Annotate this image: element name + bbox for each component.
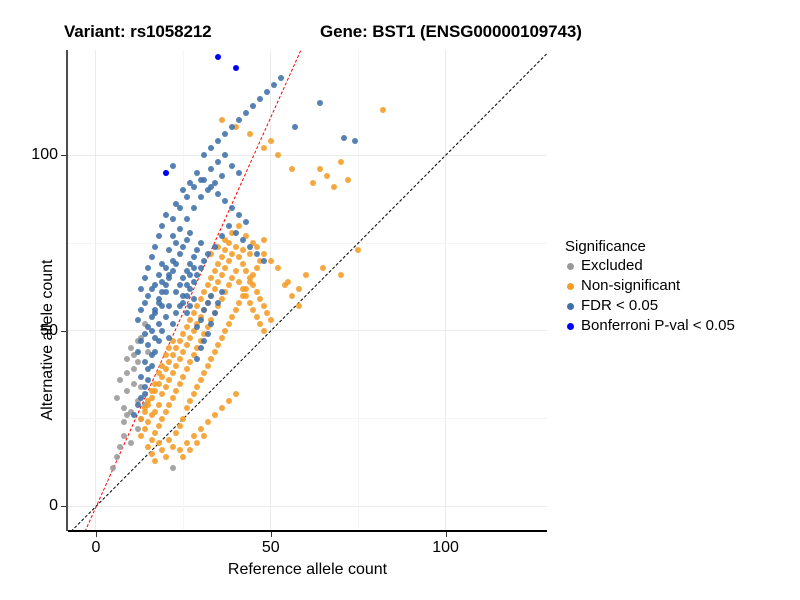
data-point (205, 300, 211, 306)
data-point (149, 314, 155, 320)
data-point (149, 451, 155, 457)
data-point (170, 163, 176, 169)
data-point (222, 131, 228, 137)
data-point (110, 465, 116, 471)
data-point (236, 254, 242, 260)
data-point (198, 240, 204, 246)
data-point (247, 244, 253, 250)
data-point (296, 303, 302, 309)
data-point (170, 395, 176, 401)
data-point (194, 170, 200, 176)
data-point (191, 296, 197, 302)
data-point (205, 282, 211, 288)
data-point (121, 405, 127, 411)
data-point (198, 265, 204, 271)
data-point (198, 345, 204, 351)
variant-title: Variant: rs1058212 (64, 22, 212, 42)
data-point (247, 251, 253, 257)
data-point (170, 465, 176, 471)
data-point (145, 402, 151, 408)
data-point (187, 230, 193, 236)
legend-dot (567, 263, 574, 270)
data-point (212, 349, 218, 355)
data-point (152, 409, 158, 415)
x-tick-label: 0 (66, 539, 126, 557)
legend-key-dot-icon (563, 319, 577, 333)
data-point (152, 349, 158, 355)
data-point (135, 349, 141, 355)
data-point (261, 303, 267, 309)
data-point (250, 272, 256, 278)
data-point (208, 145, 214, 151)
gridline-horizontal-minor (68, 243, 547, 244)
data-point (331, 184, 337, 190)
gridline-vertical (95, 50, 96, 531)
data-point (187, 359, 193, 365)
data-point (166, 345, 172, 351)
x-tick-label: 50 (241, 539, 301, 557)
data-point (173, 261, 179, 267)
gridline-vertical-minor (358, 50, 359, 531)
data-point (222, 247, 228, 253)
legend-items: ExcludedNon-significantFDR < 0.05Bonferr… (563, 256, 798, 336)
data-point (198, 377, 204, 383)
data-point (198, 426, 204, 432)
data-point (170, 352, 176, 358)
data-point (173, 310, 179, 316)
data-point (226, 321, 232, 327)
data-point (296, 286, 302, 292)
data-point (142, 300, 148, 306)
data-point (201, 338, 207, 344)
data-point (226, 223, 232, 229)
legend-key-dot-icon (563, 299, 577, 313)
data-point (236, 212, 242, 218)
y-axis-label: Alternative allele count (39, 140, 57, 540)
data-point (257, 296, 263, 302)
data-point (236, 170, 242, 176)
data-point (121, 419, 127, 425)
data-point (156, 423, 162, 429)
data-point (226, 258, 232, 264)
data-point (233, 230, 239, 236)
data-point (184, 216, 190, 222)
data-point (138, 416, 144, 422)
data-point (310, 180, 316, 186)
data-point (166, 247, 172, 253)
legend-item-label: Bonferroni P-val < 0.05 (581, 316, 735, 336)
data-point (163, 282, 169, 288)
data-point (156, 272, 162, 278)
data-point (303, 272, 309, 278)
data-point (201, 370, 207, 376)
x-axis-line (68, 530, 547, 532)
data-point (191, 310, 197, 316)
data-point (201, 152, 207, 158)
gridline-horizontal (68, 330, 547, 331)
data-point (317, 166, 323, 172)
data-point (317, 100, 323, 106)
data-point (135, 402, 141, 408)
data-point (212, 268, 218, 274)
data-point (201, 289, 207, 295)
data-point (222, 265, 228, 271)
data-point (250, 307, 256, 313)
legend-dot (567, 323, 574, 330)
data-point (215, 279, 221, 285)
data-point (222, 328, 228, 334)
data-point (170, 268, 176, 274)
data-point (173, 388, 179, 394)
data-point (163, 170, 169, 176)
data-point (149, 437, 155, 443)
data-point (208, 293, 214, 299)
data-point (243, 219, 249, 225)
data-point (184, 342, 190, 348)
x-tick-mark (96, 532, 97, 537)
data-point (128, 440, 134, 446)
data-point (149, 395, 155, 401)
data-point (205, 363, 211, 369)
data-point (187, 303, 193, 309)
data-point (240, 261, 246, 267)
y-tick-mark (61, 506, 66, 507)
data-point (131, 381, 137, 387)
data-point (212, 412, 218, 418)
data-point (187, 447, 193, 453)
data-point (184, 194, 190, 200)
data-point (355, 247, 361, 253)
data-point (261, 258, 267, 264)
data-point (138, 286, 144, 292)
data-point (250, 103, 256, 109)
data-point (194, 440, 200, 446)
data-point (240, 247, 246, 253)
data-point (219, 272, 225, 278)
legend-item-3[interactable]: Bonferroni P-val < 0.05 (563, 316, 798, 336)
legend-item-0[interactable]: Excluded (563, 256, 798, 276)
data-point (201, 258, 207, 264)
data-point (159, 416, 165, 422)
data-point (163, 409, 169, 415)
data-point (278, 75, 284, 81)
data-point (215, 54, 221, 60)
data-point (229, 314, 235, 320)
data-point (170, 444, 176, 450)
data-point (257, 321, 263, 327)
data-point (191, 205, 197, 211)
data-point (261, 328, 267, 334)
data-point (208, 356, 214, 362)
data-point (180, 275, 186, 281)
data-point (233, 65, 239, 71)
data-point (180, 416, 186, 422)
data-point (184, 440, 190, 446)
data-point (184, 237, 190, 243)
legend-dot (567, 283, 574, 290)
data-point (145, 419, 151, 425)
data-point (117, 377, 123, 383)
data-point (191, 254, 197, 260)
data-point (240, 293, 246, 299)
data-point (229, 275, 235, 281)
data-point (219, 173, 225, 179)
data-point (166, 359, 172, 365)
data-point (229, 251, 235, 257)
data-point (177, 423, 183, 429)
data-point (194, 384, 200, 390)
data-point (275, 152, 281, 158)
data-point (187, 398, 193, 404)
data-point (261, 145, 267, 151)
data-point (275, 265, 281, 271)
data-point (215, 191, 221, 197)
data-point (142, 426, 148, 432)
data-point (247, 279, 253, 285)
gridline-vertical (270, 50, 271, 531)
data-point (243, 286, 249, 292)
plot-panel (68, 50, 547, 531)
data-point (142, 331, 148, 337)
data-point (194, 356, 200, 362)
data-point (145, 265, 151, 271)
x-tick-label: 100 (416, 539, 476, 557)
data-point (271, 82, 277, 88)
data-point (222, 198, 228, 204)
data-point (177, 381, 183, 387)
legend-title: Significance (565, 238, 798, 255)
data-point (254, 251, 260, 257)
data-point (152, 458, 158, 464)
data-point (198, 296, 204, 302)
data-point (152, 430, 158, 436)
legend-dot (567, 303, 574, 310)
data-point (219, 117, 225, 123)
data-point (208, 275, 214, 281)
data-point (289, 293, 295, 299)
data-point (261, 251, 267, 257)
data-point (180, 331, 186, 337)
data-point (219, 335, 225, 341)
data-point (138, 307, 144, 313)
data-point (187, 335, 193, 341)
data-point (219, 405, 225, 411)
data-point (226, 398, 232, 404)
data-point (268, 138, 274, 144)
data-point (138, 338, 144, 344)
gene-title: Gene: BST1 (ENSG00000109743) (320, 22, 582, 42)
data-point (243, 268, 249, 274)
data-point (145, 444, 151, 450)
y-tick-mark (61, 155, 66, 156)
data-point (205, 251, 211, 257)
data-point (156, 233, 162, 239)
data-point (166, 377, 172, 383)
data-point (170, 233, 176, 239)
gridline-horizontal (68, 506, 547, 507)
identity-line (71, 54, 547, 531)
data-point (198, 194, 204, 200)
data-point (149, 388, 155, 394)
data-point (180, 244, 186, 250)
data-point (135, 317, 141, 323)
x-tick-mark (446, 532, 447, 537)
data-point (170, 370, 176, 376)
data-point (191, 279, 197, 285)
data-point (233, 391, 239, 397)
data-point (215, 138, 221, 144)
data-point (166, 437, 172, 443)
data-point (163, 352, 169, 358)
data-point (166, 402, 172, 408)
data-point (173, 240, 179, 246)
data-point (177, 356, 183, 362)
data-point (324, 173, 330, 179)
data-point (124, 388, 130, 394)
data-point (187, 272, 193, 278)
data-point (208, 321, 214, 327)
data-point (124, 370, 130, 376)
data-point (170, 321, 176, 327)
data-point (159, 223, 165, 229)
data-point (177, 251, 183, 257)
data-point (236, 223, 242, 229)
data-point (219, 233, 225, 239)
data-point (247, 131, 253, 137)
data-point (114, 395, 120, 401)
data-point (352, 138, 358, 144)
data-point (138, 374, 144, 380)
data-point (152, 244, 158, 250)
data-point (222, 152, 228, 158)
data-point (212, 286, 218, 292)
y-tick-mark (61, 331, 66, 332)
data-point (254, 314, 260, 320)
data-point (257, 96, 263, 102)
data-point (166, 303, 172, 309)
data-point (289, 166, 295, 172)
data-point (149, 254, 155, 260)
data-point (138, 433, 144, 439)
data-point (152, 381, 158, 387)
data-point (135, 359, 141, 365)
data-point (268, 317, 274, 323)
data-point (320, 265, 326, 271)
data-point (205, 331, 211, 337)
data-point (194, 247, 200, 253)
data-point (142, 409, 148, 415)
data-point (191, 433, 197, 439)
data-point (254, 289, 260, 295)
data-point (114, 454, 120, 460)
data-point (219, 254, 225, 260)
data-point (156, 321, 162, 327)
legend-item-1[interactable]: Non-significant (563, 276, 798, 296)
data-point (159, 328, 165, 334)
data-point (173, 430, 179, 436)
data-point (187, 317, 193, 323)
data-point (163, 454, 169, 460)
data-point (135, 426, 141, 432)
legend-item-2[interactable]: FDR < 0.05 (563, 296, 798, 316)
data-point (180, 374, 186, 380)
data-point (229, 163, 235, 169)
data-point (191, 265, 197, 271)
legend: Significance ExcludedNon-significantFDR … (563, 238, 798, 336)
data-point (142, 359, 148, 365)
data-point (142, 384, 148, 390)
data-point (152, 282, 158, 288)
data-point (247, 300, 253, 306)
data-point (184, 310, 190, 316)
data-point (212, 244, 218, 250)
data-point (268, 258, 274, 264)
data-point (229, 205, 235, 211)
data-point (292, 124, 298, 130)
data-point (180, 349, 186, 355)
data-point (254, 265, 260, 271)
data-point (380, 107, 386, 113)
y-axis-line (66, 50, 68, 531)
data-point (341, 135, 347, 141)
data-point (124, 356, 130, 362)
chart-root: Variant: rs1058212 Gene: BST1 (ENSG00000… (0, 0, 800, 600)
data-point (145, 342, 151, 348)
data-point (215, 159, 221, 165)
legend-key-dot-icon (563, 279, 577, 293)
data-point (233, 307, 239, 313)
data-point (173, 345, 179, 351)
data-point (194, 303, 200, 309)
data-point (208, 166, 214, 172)
data-point (345, 177, 351, 183)
data-point (170, 216, 176, 222)
data-point (215, 342, 221, 348)
data-point (236, 117, 242, 123)
data-point (198, 317, 204, 323)
data-point (205, 419, 211, 425)
data-point (236, 279, 242, 285)
legend-item-label: Excluded (581, 256, 643, 276)
data-point (149, 363, 155, 369)
data-point (201, 433, 207, 439)
data-point (128, 345, 134, 351)
data-point (243, 110, 249, 116)
legend-item-label: Non-significant (581, 276, 680, 296)
data-point (338, 272, 344, 278)
data-point (212, 310, 218, 316)
data-point (163, 384, 169, 390)
data-point (156, 440, 162, 446)
data-point (159, 447, 165, 453)
data-point (163, 314, 169, 320)
data-point (156, 300, 162, 306)
gridline-vertical (445, 50, 446, 531)
data-point (208, 184, 214, 190)
data-point (226, 282, 232, 288)
data-point (240, 237, 246, 243)
data-point (184, 366, 190, 372)
data-point (156, 338, 162, 344)
data-point (184, 405, 190, 411)
data-point (156, 370, 162, 376)
data-point (131, 366, 137, 372)
data-point (145, 293, 151, 299)
x-axis-label: Reference allele count (68, 561, 547, 579)
data-point (173, 289, 179, 295)
data-point (201, 307, 207, 313)
data-point (180, 454, 186, 460)
